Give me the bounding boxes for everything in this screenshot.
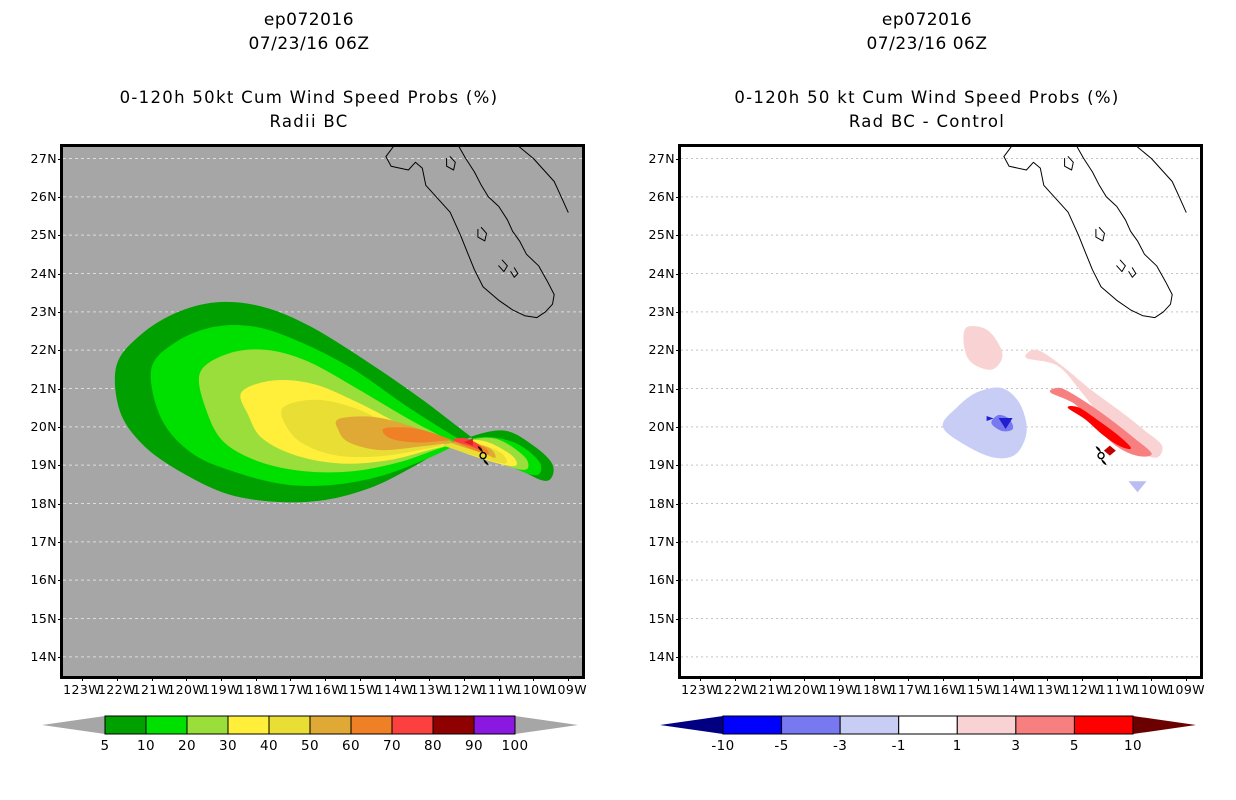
colorbar-swatch-2	[187, 716, 228, 734]
colorbar-under-arrow	[660, 716, 723, 734]
x-axis-tick	[1186, 676, 1187, 681]
y-axis-tick	[676, 274, 681, 275]
y-axis-tick	[58, 350, 63, 351]
colorbar-tick-label: 1	[953, 738, 962, 754]
x-axis-label: 117W	[271, 682, 309, 697]
storm-marker-band-lower	[1101, 459, 1107, 466]
x-axis-tick	[82, 676, 83, 681]
x-axis-label: 122W	[98, 682, 136, 697]
colorbar-tick-label: 30	[219, 738, 237, 754]
coastline-segment	[1096, 228, 1105, 241]
y-axis-tick	[676, 427, 681, 428]
colorbar-under-arrow	[42, 716, 105, 734]
map-plot-difference[interactable]	[678, 144, 1203, 679]
colorbar-tick-label: 20	[178, 738, 196, 754]
x-axis-label: 118W	[237, 682, 275, 697]
colorbar-tick-label: 10	[137, 738, 155, 754]
x-axis-tick	[839, 676, 840, 681]
y-axis-tick	[676, 312, 681, 313]
colorbar-tick-label: -3	[833, 738, 847, 754]
y-axis-tick	[58, 159, 63, 160]
y-axis-tick	[58, 389, 63, 390]
x-axis-label: 123W	[63, 682, 101, 697]
plot-subtitle-left: Radii BC	[0, 112, 618, 131]
x-axis-tick	[429, 676, 430, 681]
y-axis-label: 26N	[15, 189, 57, 204]
y-axis-tick	[676, 235, 681, 236]
colorbar-tick-label: 5	[1070, 738, 1079, 754]
x-axis-label: 121W	[133, 682, 171, 697]
y-axis-tick	[58, 274, 63, 275]
y-axis-label: 17N	[633, 534, 675, 549]
coastline-segment	[478, 228, 487, 241]
colorbar-swatch-5	[310, 716, 351, 734]
x-axis-label: 121W	[751, 682, 789, 697]
x-axis-label: 109W	[1167, 682, 1205, 697]
x-axis-label: 123W	[681, 682, 719, 697]
colorbar-tick-label: -5	[774, 738, 788, 754]
contour-level--1	[943, 388, 1027, 458]
map-plot-probability[interactable]	[60, 144, 585, 679]
x-axis-label: 116W	[924, 682, 962, 697]
forecast-date-right: 07/23/16 06Z	[618, 34, 1236, 54]
x-axis-label: 119W	[820, 682, 858, 697]
x-axis-label: 110W	[1132, 682, 1170, 697]
y-axis-label: 14N	[633, 649, 675, 664]
y-axis-tick	[676, 504, 681, 505]
probability-contour-map	[63, 147, 582, 676]
y-axis-label: 26N	[633, 189, 675, 204]
storm-id-left: ep072016	[0, 10, 618, 30]
x-axis-label: 111W	[480, 682, 518, 697]
colorbar-tick-label: 60	[342, 738, 360, 754]
x-axis-tick	[978, 676, 979, 681]
x-axis-label: 112W	[1063, 682, 1101, 697]
colorbar-over-arrow	[1133, 716, 1196, 734]
y-axis-label: 23N	[15, 304, 57, 319]
x-axis-label: 117W	[889, 682, 927, 697]
y-axis-label: 20N	[633, 419, 675, 434]
x-axis-label: 118W	[855, 682, 893, 697]
x-axis-label: 113W	[1028, 682, 1066, 697]
x-axis-tick	[499, 676, 500, 681]
colorbar-probability-swatches	[40, 712, 580, 738]
colorbar-tick-label: 10	[1124, 738, 1142, 754]
coastline-segment	[511, 268, 518, 278]
y-axis-label: 24N	[633, 266, 675, 281]
x-axis-label: 110W	[514, 682, 552, 697]
colorbar-swatch-8	[433, 716, 474, 734]
x-axis-tick	[152, 676, 153, 681]
x-axis-tick	[256, 676, 257, 681]
y-axis-label: 14N	[15, 649, 57, 664]
x-axis-tick	[943, 676, 944, 681]
colorbar-swatch-6	[1074, 716, 1133, 734]
colorbar-difference-swatches	[658, 712, 1198, 738]
storm-marker-eye	[1098, 453, 1104, 459]
y-axis-label: 25N	[15, 227, 57, 242]
y-axis-label: 22N	[15, 342, 57, 357]
y-axis-tick	[676, 465, 681, 466]
colorbar-probability-labels: 5102030405060708090100	[40, 738, 580, 760]
colorbar-tick-label: 100	[502, 738, 529, 754]
y-axis-tick	[676, 350, 681, 351]
x-axis-tick	[735, 676, 736, 681]
colorbar-tick-label: 90	[465, 738, 483, 754]
colorbar-swatch-0	[723, 716, 782, 734]
y-axis-label: 24N	[15, 266, 57, 281]
colorbar-tick-label: 5	[101, 738, 110, 754]
colorbar-swatch-0	[105, 716, 146, 734]
contour-level-1	[964, 326, 1002, 369]
colorbar-swatch-3	[899, 716, 958, 734]
y-axis-label: 27N	[15, 151, 57, 166]
y-axis-label: 25N	[633, 227, 675, 242]
x-axis-tick	[804, 676, 805, 681]
colorbar-swatch-5	[1016, 716, 1075, 734]
x-axis-label: 114W	[994, 682, 1032, 697]
x-axis-tick	[1047, 676, 1048, 681]
colorbar-tick-label: 70	[383, 738, 401, 754]
coastline-segment	[904, 147, 1186, 318]
colorbar-tick-label: 40	[260, 738, 278, 754]
y-axis-tick	[676, 657, 681, 658]
x-axis-tick	[117, 676, 118, 681]
x-axis-label: 115W	[341, 682, 379, 697]
y-axis-tick	[676, 159, 681, 160]
colorbar-swatch-4	[957, 716, 1016, 734]
forecast-date-left: 07/23/16 06Z	[0, 34, 618, 54]
y-axis-tick	[58, 580, 63, 581]
storm-marker-icon	[1096, 446, 1107, 465]
x-axis-tick	[360, 676, 361, 681]
x-axis-label: 109W	[549, 682, 587, 697]
x-axis-tick	[874, 676, 875, 681]
colorbar-probability: 5102030405060708090100	[40, 712, 580, 764]
x-axis-tick	[1082, 676, 1083, 681]
contour-level-1	[1026, 350, 1163, 457]
x-axis-label: 120W	[167, 682, 205, 697]
difference-secondary-min-marker	[1129, 481, 1147, 492]
y-axis-tick	[58, 427, 63, 428]
y-axis-label: 17N	[15, 534, 57, 549]
probability-filled-contours	[115, 302, 553, 502]
difference-filled-contours	[943, 326, 1162, 458]
x-axis-tick	[1151, 676, 1152, 681]
colorbar-swatch-3	[228, 716, 269, 734]
x-axis-tick	[568, 676, 569, 681]
y-axis-label: 15N	[15, 611, 57, 626]
y-axis-label: 20N	[15, 419, 57, 434]
y-axis-label: 21N	[633, 381, 675, 396]
y-axis-label: 16N	[633, 572, 675, 587]
colorbar-swatch-1	[146, 716, 187, 734]
y-axis-tick	[58, 197, 63, 198]
difference-contour-map	[681, 147, 1200, 676]
x-axis-label: 122W	[716, 682, 754, 697]
x-axis-label: 112W	[445, 682, 483, 697]
coastline	[904, 147, 1186, 318]
x-axis-tick	[395, 676, 396, 681]
colorbar-difference-labels: -10-5-3-113510	[658, 738, 1198, 760]
colorbar-tick-label: 80	[424, 738, 442, 754]
difference-max-marker	[1104, 446, 1116, 456]
x-axis-tick	[1117, 676, 1118, 681]
x-axis-tick	[908, 676, 909, 681]
x-axis-tick	[700, 676, 701, 681]
y-axis-tick	[676, 542, 681, 543]
x-axis-tick	[464, 676, 465, 681]
colorbar-swatch-6	[351, 716, 392, 734]
y-axis-label: 19N	[633, 457, 675, 472]
y-axis-tick	[58, 504, 63, 505]
plot-title-left: 0-120h 50kt Cum Wind Speed Probs (%)	[0, 88, 618, 107]
colorbar-tick-label: 50	[301, 738, 319, 754]
colorbar-swatch-7	[392, 716, 433, 734]
y-axis-tick	[58, 657, 63, 658]
colorbar-tick-label: -10	[711, 738, 734, 754]
x-axis-label: 111W	[1098, 682, 1136, 697]
coastline-segment	[1129, 268, 1136, 278]
x-axis-label: 120W	[785, 682, 823, 697]
y-axis-label: 22N	[633, 342, 675, 357]
y-axis-tick	[58, 542, 63, 543]
x-axis-label: 119W	[202, 682, 240, 697]
y-axis-tick	[676, 580, 681, 581]
y-axis-label: 23N	[633, 304, 675, 319]
plot-title-right: 0-120h 50 kt Cum Wind Speed Probs (%)	[618, 88, 1236, 107]
x-axis-tick	[290, 676, 291, 681]
y-axis-tick	[676, 389, 681, 390]
y-axis-tick	[58, 235, 63, 236]
y-axis-label: 18N	[15, 496, 57, 511]
coastline	[286, 147, 568, 318]
map-gridlines	[681, 159, 1200, 657]
colorbar-swatch-4	[269, 716, 310, 734]
y-axis-tick	[676, 197, 681, 198]
panel-rad-bc-minus-control: ep072016 07/23/16 06Z 0-120h 50 kt Cum W…	[618, 0, 1236, 800]
colorbar-over-arrow	[515, 716, 578, 734]
x-axis-label: 113W	[410, 682, 448, 697]
x-axis-tick	[186, 676, 187, 681]
y-axis-tick	[58, 619, 63, 620]
colorbar-tick-label: 3	[1011, 738, 1020, 754]
x-axis-tick	[533, 676, 534, 681]
plot-subtitle-right: Rad BC - Control	[618, 112, 1236, 131]
coastline-segment	[499, 260, 508, 272]
x-axis-label: 116W	[306, 682, 344, 697]
panel-radii-bc: ep072016 07/23/16 06Z 0-120h 50kt Cum Wi…	[0, 0, 618, 800]
y-axis-label: 19N	[15, 457, 57, 472]
y-axis-tick	[58, 465, 63, 466]
coastline-segment	[286, 147, 568, 318]
x-axis-label: 114W	[376, 682, 414, 697]
x-axis-label: 115W	[959, 682, 997, 697]
storm-id-right: ep072016	[618, 10, 1236, 30]
coastline-segment	[1117, 260, 1126, 272]
x-axis-tick	[1013, 676, 1014, 681]
y-axis-label: 15N	[633, 611, 675, 626]
colorbar-tick-label: -1	[892, 738, 906, 754]
y-axis-tick	[58, 312, 63, 313]
colorbar-difference: -10-5-3-113510	[658, 712, 1198, 764]
x-axis-tick	[325, 676, 326, 681]
colorbar-swatch-9	[474, 716, 515, 734]
storm-marker-band-upper	[1096, 446, 1102, 453]
y-axis-label: 21N	[15, 381, 57, 396]
colorbar-swatch-1	[782, 716, 841, 734]
y-axis-label: 18N	[633, 496, 675, 511]
colorbar-swatch-2	[840, 716, 899, 734]
x-axis-tick	[221, 676, 222, 681]
x-axis-tick	[770, 676, 771, 681]
y-axis-tick	[676, 619, 681, 620]
y-axis-label: 16N	[15, 572, 57, 587]
y-axis-label: 27N	[633, 151, 675, 166]
